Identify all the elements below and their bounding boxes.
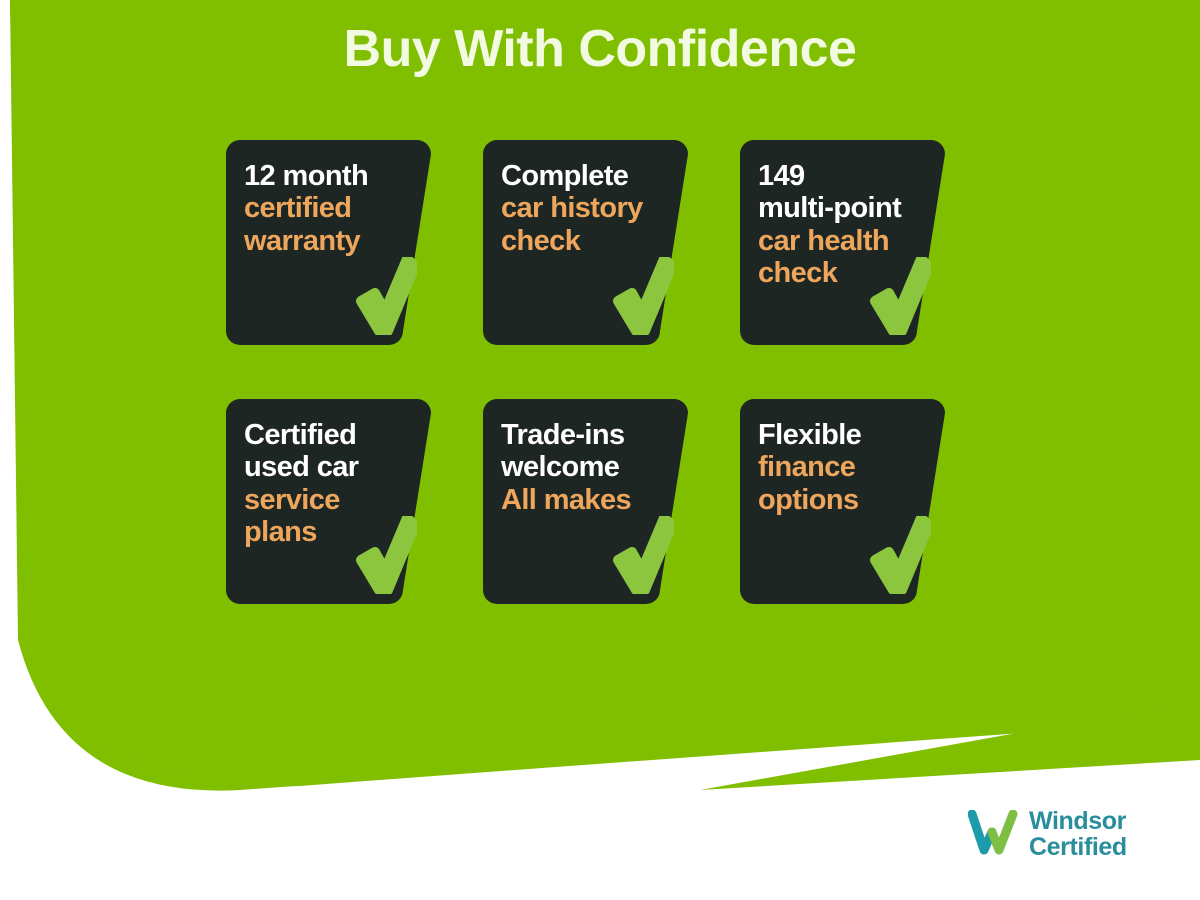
card-text: Flexible finance options bbox=[758, 419, 933, 516]
card-line: Trade-ins bbox=[501, 419, 676, 451]
windsor-certified-logo[interactable]: Windsor Certified bbox=[968, 808, 1127, 860]
card-line: Flexible bbox=[758, 419, 933, 451]
card-line: All makes bbox=[501, 484, 676, 516]
card-line: Certified bbox=[244, 419, 419, 451]
logo-line-windsor: Windsor bbox=[1029, 808, 1127, 834]
card-line: multi-point bbox=[758, 192, 933, 224]
check-icon bbox=[355, 516, 417, 594]
check-icon bbox=[355, 257, 417, 335]
page-title: Buy With Confidence bbox=[0, 22, 1200, 77]
feature-card-grid: 12 month certified warranty Complete car… bbox=[226, 140, 986, 604]
card-certified-used-car-service-plans[interactable]: Certified used car service plans bbox=[226, 399, 431, 604]
logo-wordmark: Windsor Certified bbox=[1029, 808, 1127, 860]
card-flexible-finance-options[interactable]: Flexible finance options bbox=[740, 399, 945, 604]
card-line: service bbox=[244, 484, 419, 516]
card-line: certified bbox=[244, 192, 419, 224]
card-line: finance bbox=[758, 451, 933, 483]
logo-line-certified: Certified bbox=[1029, 834, 1127, 860]
card-complete-car-history-check[interactable]: Complete car history check bbox=[483, 140, 688, 345]
card-line: options bbox=[758, 484, 933, 516]
card-line: car history bbox=[501, 192, 676, 224]
card-trade-ins-welcome-all-makes[interactable]: Trade-ins welcome All makes bbox=[483, 399, 688, 604]
card-line: welcome bbox=[501, 451, 676, 483]
card-line: Complete bbox=[501, 160, 676, 192]
card-line: warranty bbox=[244, 225, 419, 257]
card-line: used car bbox=[244, 451, 419, 483]
card-line: car health bbox=[758, 225, 933, 257]
windsor-w-icon bbox=[968, 810, 1020, 858]
card-text: Complete car history check bbox=[501, 160, 676, 257]
card-line: 12 month bbox=[244, 160, 419, 192]
check-icon bbox=[612, 257, 674, 335]
promo-banner: Buy With Confidence 12 month certified w… bbox=[0, 0, 1200, 900]
check-icon bbox=[869, 516, 931, 594]
card-12-month-certified-warranty[interactable]: 12 month certified warranty bbox=[226, 140, 431, 345]
card-line: check bbox=[501, 225, 676, 257]
card-text: 12 month certified warranty bbox=[244, 160, 419, 257]
card-line: 149 bbox=[758, 160, 933, 192]
check-icon bbox=[612, 516, 674, 594]
card-text: Trade-ins welcome All makes bbox=[501, 419, 676, 516]
check-icon bbox=[869, 257, 931, 335]
card-149-multi-point-car-health-check[interactable]: 149 multi-point car health check bbox=[740, 140, 945, 345]
